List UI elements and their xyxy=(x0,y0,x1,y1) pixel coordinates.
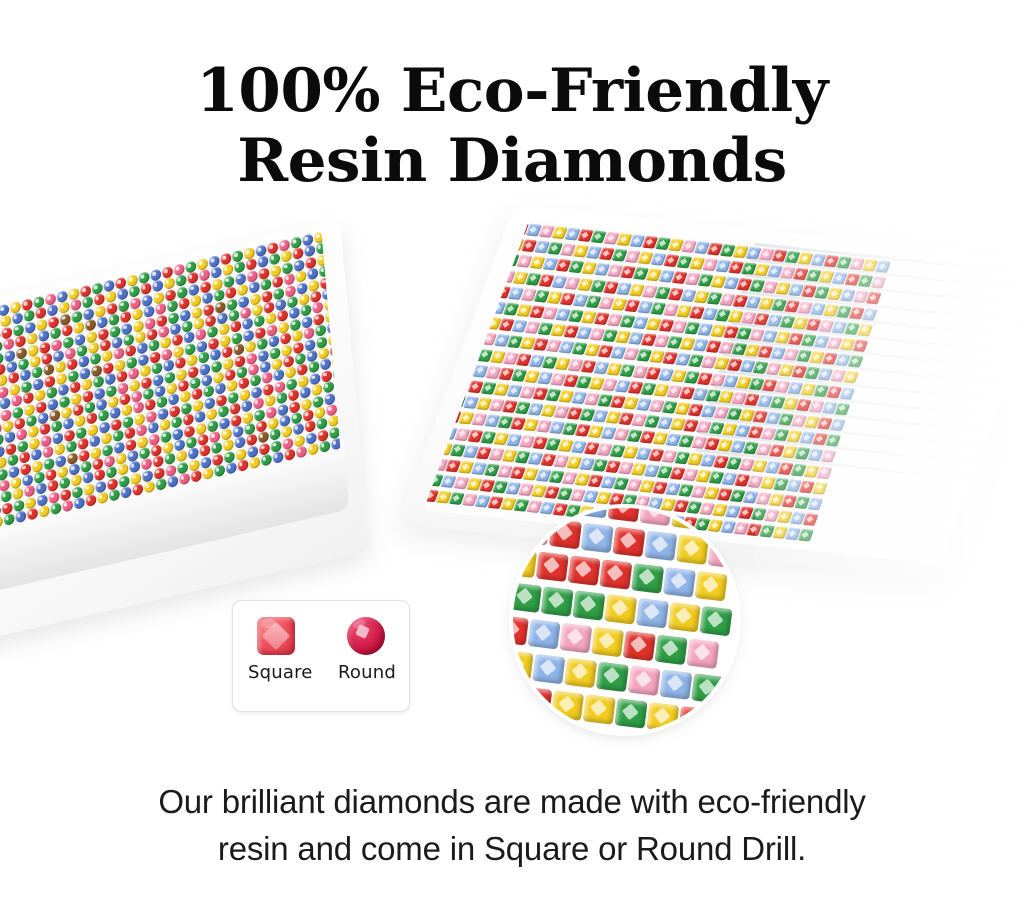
caption-line-2: resin and come in Square or Round Drill. xyxy=(0,825,1024,872)
tray-groove xyxy=(700,432,999,466)
tray-groove xyxy=(695,448,994,482)
magnified-drill-green xyxy=(572,590,605,620)
magnified-drill-yellow xyxy=(513,650,534,680)
drill-yellow xyxy=(307,443,319,457)
square-gem-wrap xyxy=(248,613,304,659)
drill-green xyxy=(214,464,226,478)
drill-blue xyxy=(225,462,237,476)
drill-red xyxy=(85,494,97,508)
tray-groove xyxy=(704,417,1003,451)
drill-pink xyxy=(295,445,307,459)
legend-item-round[interactable]: Round xyxy=(338,613,394,683)
drill-blue xyxy=(15,510,27,524)
magnified-square-drill-detail xyxy=(513,508,737,732)
magnified-drill-yellow xyxy=(583,694,616,724)
drill-yellow xyxy=(38,505,50,519)
round-gem-wrap xyxy=(338,613,394,659)
drill-yellow xyxy=(143,480,155,494)
drill-yellow xyxy=(249,456,261,470)
drill-yellow xyxy=(202,467,214,481)
drill-red xyxy=(26,507,38,521)
magnified-drill-lightpink xyxy=(708,538,737,568)
magnified-drill-lightblue xyxy=(528,619,561,649)
magnified-drill-yellow xyxy=(604,594,637,624)
tray-groove xyxy=(727,338,1024,372)
magnified-drill-red xyxy=(513,615,529,645)
drill-shape-legend: Square Round xyxy=(232,600,410,712)
drill-green xyxy=(319,440,331,454)
magnified-drill-green xyxy=(596,662,629,692)
magnified-drill-green xyxy=(513,582,542,612)
tray-groove xyxy=(736,306,1024,340)
round-gem-icon xyxy=(347,617,385,655)
magnified-drill-green xyxy=(615,698,648,728)
drill-blue xyxy=(73,497,85,511)
legend-label-round: Round xyxy=(338,662,394,683)
magnified-drill-green xyxy=(691,673,724,703)
tray-groove xyxy=(740,290,1024,324)
magnified-drill-red xyxy=(703,508,736,534)
round-drill-tray xyxy=(0,268,400,628)
magnified-drill-lightblue xyxy=(644,531,677,561)
tray-groove xyxy=(722,353,1021,387)
magnified-drill-red xyxy=(549,519,582,549)
drill-blue xyxy=(330,437,340,451)
legend-label-square: Square xyxy=(248,662,304,683)
magnified-drill-yellow xyxy=(551,690,584,720)
magnified-drill-yellow xyxy=(646,702,679,732)
drill-green xyxy=(50,502,62,516)
legend-item-square[interactable]: Square xyxy=(248,613,304,683)
tray-groove xyxy=(709,401,1008,435)
drill-green xyxy=(260,453,272,467)
drill-red xyxy=(132,483,144,497)
tray-groove xyxy=(713,385,1012,419)
magnified-drill-red xyxy=(599,559,632,589)
drill-yellow xyxy=(97,491,109,505)
drill-pink xyxy=(178,472,190,486)
drill-blue xyxy=(120,486,132,500)
magnified-drill-lightpink xyxy=(517,515,550,545)
magnified-drill-lightpink xyxy=(559,623,592,653)
drill-blue xyxy=(272,451,284,465)
tray-groove xyxy=(749,259,1024,293)
magnified-drill-red xyxy=(678,706,711,732)
magnified-drill-lightblue xyxy=(663,567,696,597)
infographic-canvas: 100% Eco-Friendly Resin Diamonds Square xyxy=(0,0,1024,923)
magnified-drill-rows xyxy=(513,508,737,732)
magnified-drill-green xyxy=(631,563,664,593)
magnified-drill-red xyxy=(623,631,656,661)
magnified-drill-lightblue xyxy=(636,598,669,628)
magnified-drill-yellow xyxy=(564,658,597,688)
magnified-drill-yellow xyxy=(591,627,624,657)
caption-text: Our brilliant diamonds are made with eco… xyxy=(0,778,1024,872)
page-title: 100% Eco-Friendly Resin Diamonds xyxy=(0,56,1024,196)
drill-green xyxy=(155,478,167,492)
magnified-drill-yellow xyxy=(513,548,537,578)
drill-green xyxy=(3,513,15,527)
tray-groove xyxy=(731,322,1024,356)
page-title-line-1: 100% Eco-Friendly xyxy=(0,56,1024,126)
magnified-drill-red xyxy=(536,552,569,582)
drill-yellow xyxy=(0,516,3,530)
drill-blue xyxy=(167,475,179,489)
magnified-drill-lightpink xyxy=(628,666,661,696)
magnified-drill-yellow xyxy=(668,602,701,632)
magnified-drill-lightblue xyxy=(659,669,692,699)
drill-red xyxy=(190,470,202,484)
magnified-drill-red xyxy=(519,687,552,717)
tray-groove xyxy=(745,274,1024,308)
magnified-drill-lightpink xyxy=(686,639,719,669)
caption-line-1: Our brilliant diamonds are made with eco… xyxy=(0,778,1024,825)
magnified-drill-red xyxy=(612,527,645,557)
drill-green xyxy=(108,489,120,503)
square-gem-icon xyxy=(257,617,295,655)
page-title-line-2: Resin Diamonds xyxy=(0,126,1024,196)
magnified-drill-yellow xyxy=(695,571,728,601)
magnified-drill-yellow xyxy=(676,534,709,564)
drill-red xyxy=(284,448,296,462)
drill-pink xyxy=(62,499,74,513)
magnified-drill-green xyxy=(655,635,688,665)
drill-red xyxy=(237,459,249,473)
magnified-drill-green xyxy=(699,606,732,636)
magnified-drill-lightblue xyxy=(532,654,565,684)
legend-items: Square Round xyxy=(233,613,409,683)
magnified-drill-green xyxy=(541,586,574,616)
magnified-drill-yellow xyxy=(671,508,704,530)
magnified-drill-lightblue xyxy=(581,523,614,553)
tray-groove xyxy=(718,369,1017,403)
magnified-drill-red xyxy=(568,555,601,585)
